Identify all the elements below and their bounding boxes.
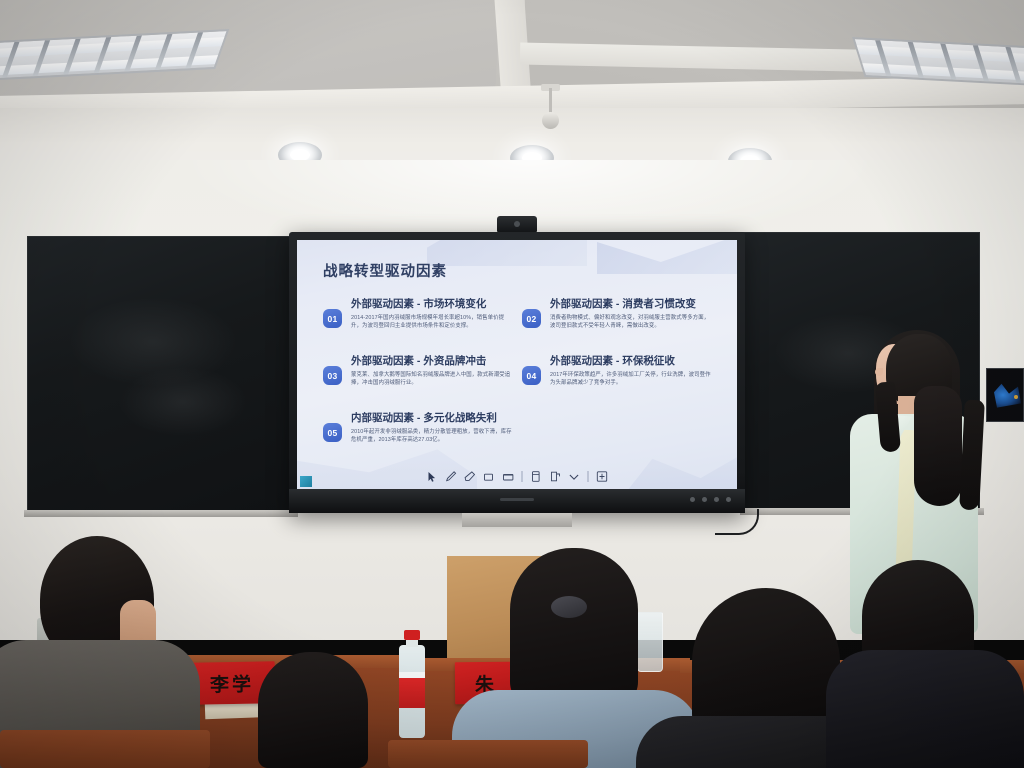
- fact-item-04: 04 外部驱动因素 - 环保税征收 2017年环保政策趋严，许多羽绒加工厂关停，…: [520, 355, 719, 399]
- ceiling: [0, 0, 1024, 144]
- bezel-button-volume-up[interactable]: [714, 497, 719, 502]
- display-bezel: [289, 489, 745, 513]
- ime-icon[interactable]: [594, 469, 611, 484]
- slide-fact-grid: 01 外部驱动因素 - 市场环境变化 2014-2017年国内羽绒服市场规模年增…: [321, 298, 719, 469]
- classroom-scene: 战略转型驱动因素 01 外部驱动因素 - 市场环境变化 2014-2017年国内…: [0, 0, 1024, 768]
- chevron-down-icon[interactable]: [566, 469, 583, 484]
- toolbar-divider: [522, 471, 523, 482]
- fact-item-02: 02 外部驱动因素 - 消费者习惯改变 消费者购物模式、偏好和观念改变，对羽绒服…: [520, 298, 719, 342]
- bottle-cap: [404, 630, 420, 640]
- shape-icon[interactable]: [481, 469, 498, 484]
- bezel-button-source[interactable]: [726, 497, 731, 502]
- hair-clip: [551, 596, 587, 618]
- pen-icon[interactable]: [443, 469, 460, 484]
- fact-title-01: 外部驱动因素 - 市场环境变化: [351, 298, 514, 312]
- audience-head-2: [258, 652, 368, 768]
- blackboard-left: [27, 236, 294, 512]
- fact-body-02: 消费者购物模式、偏好和观念改变，对羽绒服主营款式等多方面，波司登旧款式不受年轻人…: [550, 314, 713, 331]
- presenter-profile-nose: [875, 368, 883, 376]
- fact-title-04: 外部驱动因素 - 环保税征收: [550, 355, 713, 369]
- slide-title: 战略转型驱动因素: [323, 260, 447, 281]
- eraser-icon[interactable]: [462, 469, 479, 484]
- slide-screen[interactable]: 战略转型驱动因素 01 外部驱动因素 - 市场环境变化 2014-2017年国内…: [297, 240, 737, 489]
- fact-title-02: 外部驱动因素 - 消费者习惯改变: [550, 298, 713, 312]
- fact-body-03: 蒙克莱、加拿大鹅等国际知名羽绒服品牌进入中国，款式新潮受追捧，冲击国内羽绒服行业…: [351, 371, 514, 388]
- display-hardware-buttons[interactable]: [690, 497, 731, 502]
- camera-lens-icon: [514, 221, 520, 227]
- bezel-button-volume-down[interactable]: [702, 497, 707, 502]
- fact-item-03: 03 外部驱动因素 - 外资品牌冲击 蒙克莱、加拿大鹅等国际知名羽绒服品牌进入中…: [321, 355, 520, 399]
- chair-back-center: [388, 740, 588, 768]
- fact-badge-03: 03: [323, 366, 342, 385]
- slide-decoration-polygon: [427, 240, 587, 266]
- fact-title-05: 内部驱动因素 - 多元化战略失利: [351, 412, 514, 426]
- fact-badge-01: 01: [323, 309, 342, 328]
- export-icon[interactable]: [547, 469, 564, 484]
- fact-item-05: 05 内部驱动因素 - 多元化战略失利 2010年起开发非羽绒服品类，精力分散管…: [321, 412, 520, 456]
- toolbar-divider: [588, 471, 589, 482]
- interactive-smart-board[interactable]: 战略转型驱动因素 01 外部驱动因素 - 市场环境变化 2014-2017年国内…: [289, 232, 745, 513]
- fact-title-03: 外部驱动因素 - 外资品牌冲击: [351, 355, 514, 369]
- fact-item-01: 01 外部驱动因素 - 市场环境变化 2014-2017年国内羽绒服市场规模年增…: [321, 298, 520, 342]
- cursor-icon[interactable]: [424, 469, 441, 484]
- drinking-glass: [637, 612, 663, 672]
- fact-badge-02: 02: [522, 309, 541, 328]
- chair-back-left: [0, 730, 210, 768]
- fact-body-04: 2017年环保政策趋严，许多羽绒加工厂关停，行业洗牌，波司登作为头部品牌减少了竞…: [550, 371, 713, 388]
- display-brand-logo: [500, 498, 534, 501]
- display-wall-mount: [462, 513, 572, 527]
- page-icon[interactable]: [528, 469, 545, 484]
- frame-icon[interactable]: [500, 469, 517, 484]
- fact-badge-04: 04: [522, 366, 541, 385]
- fact-body-05: 2010年起开发非羽绒服品类，精力分散管理粗放，营收下滑，库存危机严重，2013…: [351, 428, 514, 445]
- audience-body-5: [826, 650, 1024, 768]
- ceiling-pendant-sensor: [542, 112, 559, 129]
- fact-badge-05: 05: [323, 423, 342, 442]
- presenter-hair-tail: [959, 400, 985, 511]
- blackboard-rail-left: [24, 510, 298, 517]
- presenter-hair-long: [914, 386, 962, 506]
- windows-taskbar-icon[interactable]: [300, 476, 312, 487]
- water-bottle: [399, 630, 425, 738]
- bezel-button-power[interactable]: [690, 497, 695, 502]
- annotation-toolbar[interactable]: [420, 467, 615, 486]
- ceiling-pendant-rod: [549, 88, 552, 114]
- fact-body-01: 2014-2017年国内羽绒服市场规模年增长率超10%，销售单价提升，为波司登回…: [351, 314, 514, 331]
- mini-display-indicator: [1014, 395, 1018, 399]
- top-mounted-camera: [497, 216, 537, 232]
- slide-decoration-polygon: [597, 240, 737, 274]
- audience-head-3: [510, 548, 638, 708]
